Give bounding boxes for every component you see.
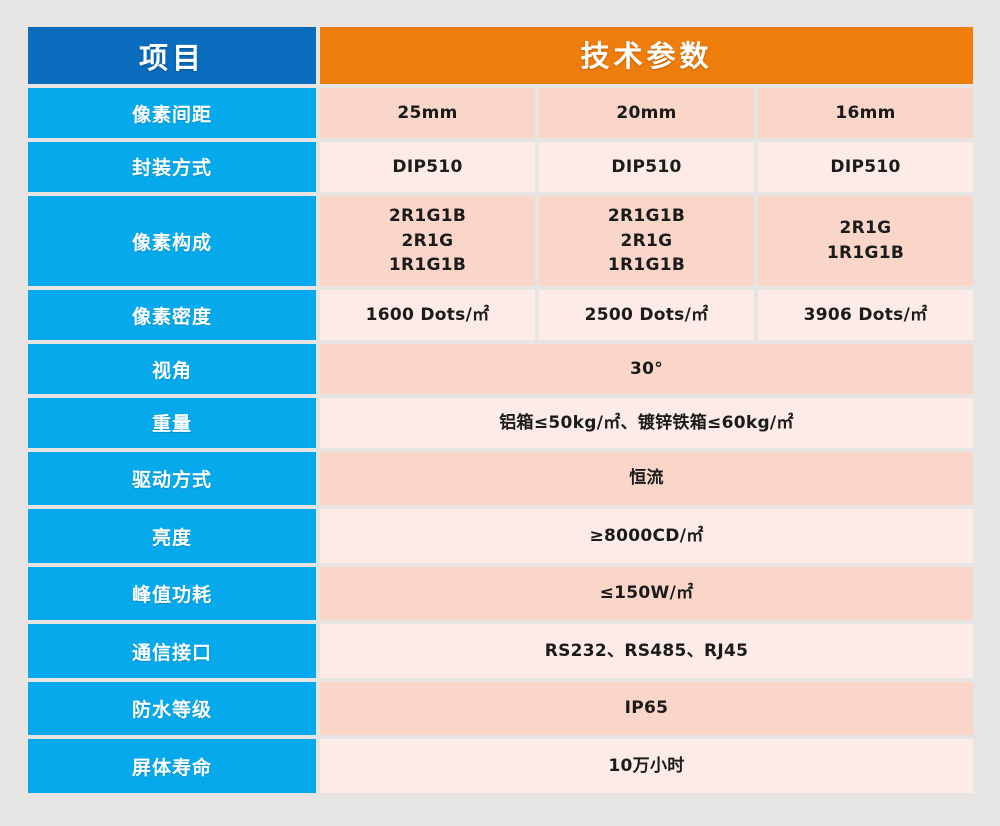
- table-header-row: 项目 技术参数: [28, 27, 973, 84]
- row-value: RS232、RS485、RJ45: [320, 624, 973, 678]
- table-row: 通信接口 RS232、RS485、RJ45: [28, 624, 973, 678]
- row-value: DIP510: [539, 142, 754, 192]
- table-row: 封装方式 DIP510 DIP510 DIP510: [28, 142, 973, 192]
- table-row: 亮度 ≥8000CD/㎡: [28, 509, 973, 563]
- row-value: 2R1G1B 2R1G 1R1G1B: [320, 196, 535, 286]
- row-value: 25mm: [320, 88, 535, 138]
- table-row: 像素间距 25mm 20mm 16mm: [28, 88, 973, 138]
- row-label: 亮度: [28, 509, 316, 563]
- row-value: 2R1G 1R1G1B: [758, 196, 973, 286]
- row-label: 像素构成: [28, 196, 316, 286]
- row-value: 16mm: [758, 88, 973, 138]
- table-row: 屏体寿命 10万小时: [28, 739, 973, 793]
- header-cell-parameters: 技术参数: [320, 27, 973, 84]
- row-label: 封装方式: [28, 142, 316, 192]
- row-value: 3906 Dots/㎡: [758, 290, 973, 340]
- row-label: 通信接口: [28, 624, 316, 678]
- row-value: ≤150W/㎡: [320, 567, 973, 621]
- row-value: 1600 Dots/㎡: [320, 290, 535, 340]
- row-label: 驱动方式: [28, 452, 316, 506]
- spec-table: 项目 技术参数 像素间距 25mm 20mm 16mm 封装方式 DIP510 …: [28, 27, 973, 793]
- row-label: 像素间距: [28, 88, 316, 138]
- header-cell-item: 项目: [28, 27, 316, 84]
- row-label: 视角: [28, 344, 316, 394]
- table-row: 峰值功耗 ≤150W/㎡: [28, 567, 973, 621]
- row-label: 屏体寿命: [28, 739, 316, 793]
- row-value: 20mm: [539, 88, 754, 138]
- table-row: 驱动方式 恒流: [28, 452, 973, 506]
- table-row: 重量 铝箱≤50kg/㎡、镀锌铁箱≤60kg/㎡: [28, 398, 973, 448]
- table-row: 像素密度 1600 Dots/㎡ 2500 Dots/㎡ 3906 Dots/㎡: [28, 290, 973, 340]
- row-label: 防水等级: [28, 682, 316, 736]
- row-value: 10万小时: [320, 739, 973, 793]
- row-label: 像素密度: [28, 290, 316, 340]
- row-value: 铝箱≤50kg/㎡、镀锌铁箱≤60kg/㎡: [320, 398, 973, 448]
- row-value: 恒流: [320, 452, 973, 506]
- row-value: 30°: [320, 344, 973, 394]
- row-value: IP65: [320, 682, 973, 736]
- table-row: 视角 30°: [28, 344, 973, 394]
- row-value: 2R1G1B 2R1G 1R1G1B: [539, 196, 754, 286]
- row-value: DIP510: [320, 142, 535, 192]
- row-label: 峰值功耗: [28, 567, 316, 621]
- row-value: ≥8000CD/㎡: [320, 509, 973, 563]
- row-value: DIP510: [758, 142, 973, 192]
- row-label: 重量: [28, 398, 316, 448]
- row-value: 2500 Dots/㎡: [539, 290, 754, 340]
- table-row: 防水等级 IP65: [28, 682, 973, 736]
- table-row: 像素构成 2R1G1B 2R1G 1R1G1B 2R1G1B 2R1G 1R1G…: [28, 196, 973, 286]
